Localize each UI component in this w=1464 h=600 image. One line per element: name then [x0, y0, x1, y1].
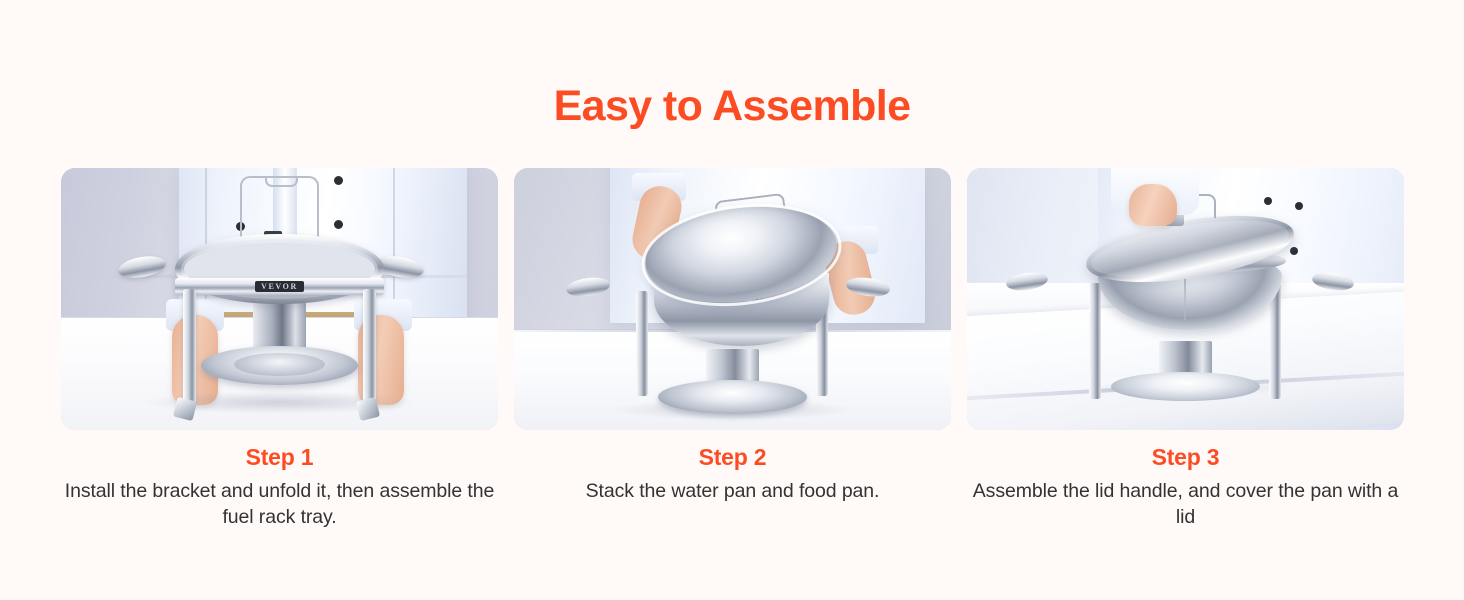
coat-seam: [393, 168, 395, 309]
bracket-foot: [172, 396, 196, 420]
step-2-image: VEVOR: [514, 168, 951, 430]
bracket-leg: [363, 289, 376, 404]
coat-button-icon: [1264, 197, 1272, 205]
frame-leg: [1089, 283, 1101, 398]
step-description: Install the bracket and unfold it, then …: [61, 479, 498, 530]
bracket-brand-band: VEVOR: [175, 278, 385, 295]
step-1-caption: Step 1 Install the bracket and unfold it…: [61, 443, 498, 530]
step-images-row: VEVOR VEVOR: [61, 168, 1404, 430]
step-captions-row: Step 1 Install the bracket and unfold it…: [61, 443, 1404, 530]
step-label: Step 1: [61, 443, 498, 473]
step-description: Assemble the lid handle, and cover the p…: [967, 479, 1404, 530]
step-label: Step 2: [514, 443, 951, 473]
fuel-rack-tray: [1111, 372, 1260, 401]
step-description: Stack the water pan and food pan.: [514, 479, 951, 505]
page-title: Easy to Assemble: [0, 84, 1464, 129]
frame-leg: [636, 291, 648, 396]
step-3-image: [967, 168, 1404, 430]
step-3-caption: Step 3 Assemble the lid handle, and cove…: [967, 443, 1404, 530]
coat-button-icon: [1290, 247, 1298, 255]
step-2-caption: Step 2 Stack the water pan and food pan.: [514, 443, 951, 530]
vevor-logo: VEVOR: [255, 281, 304, 292]
step-1-image: VEVOR: [61, 168, 498, 430]
easy-to-assemble-banner: Easy to Assemble: [0, 0, 1464, 600]
coat-button-icon: [334, 176, 343, 185]
coat-button-icon: [1295, 202, 1303, 210]
bracket-leg: [183, 289, 196, 404]
fuel-rack-tray: [658, 380, 807, 414]
step-label: Step 3: [967, 443, 1404, 473]
chef-hand: [1129, 184, 1177, 226]
